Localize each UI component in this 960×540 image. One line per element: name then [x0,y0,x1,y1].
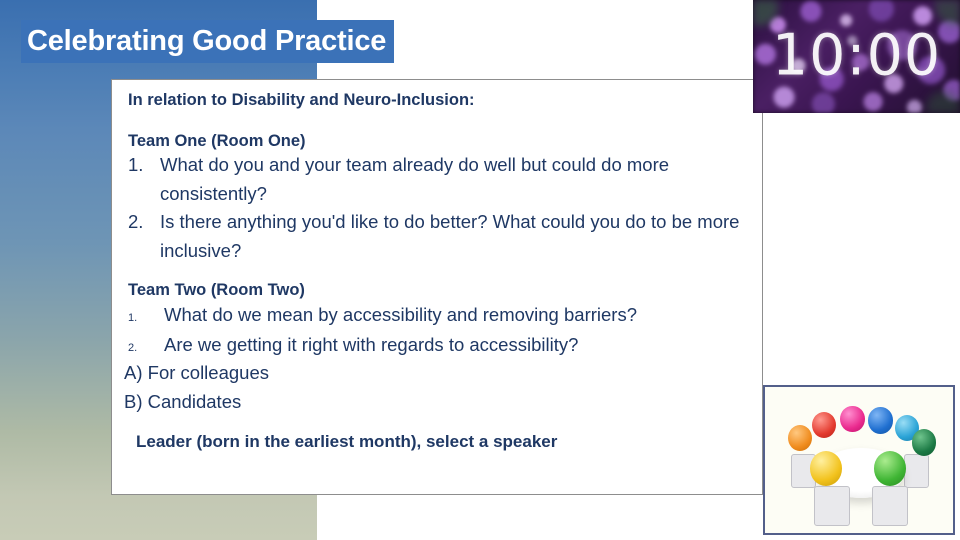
spacer [122,266,748,282]
list-item: 1. What do we mean by accessibility and … [128,300,748,330]
sub-item-b: B) Candidates [124,388,748,417]
chair [872,486,908,526]
content-text-box: In relation to Disability and Neuro-Incl… [111,79,763,495]
slide: Celebrating Good Practice In relation to… [0,0,960,540]
list-item-text: What do you and your team already do wel… [160,151,748,208]
person-head [874,451,906,486]
spacer [122,111,748,133]
list-item: 1. What do you and your team already do … [128,151,748,208]
page-title: Celebrating Good Practice [27,27,386,56]
people-around-table-clipart [763,385,955,535]
person-red [812,412,836,436]
person-head [868,407,892,433]
list-item-text: Is there anything you'd like to do bette… [160,208,748,265]
list-item-number: 1. [128,310,164,328]
list-item-number: 2. [128,208,160,237]
person-head [912,429,936,455]
leader-note: Leader (born in the earliest month), sel… [136,433,748,450]
person-green [874,451,906,482]
person-orange [788,425,812,449]
person-head [840,406,864,432]
person-head [810,451,842,486]
person-yellow [810,451,842,482]
timer-display: 10:00 [753,27,960,84]
list-item-number: 1. [128,151,160,180]
team-two-heading: Team Two (Room Two) [128,282,748,299]
intro-line: In relation to Disability and Neuro-Incl… [128,92,748,109]
chair [814,486,850,526]
team-two-list: 1. What do we mean by accessibility and … [122,300,748,359]
person-head [788,425,812,451]
sub-item-a: A) For colleagues [124,359,748,388]
person-darkgreen [912,429,936,453]
person-blue [868,407,892,431]
countdown-timer-image[interactable]: 10:00 [753,0,960,113]
person-head [812,412,836,438]
list-item-text: What do we mean by accessibility and rem… [164,300,637,330]
spacer [122,417,748,433]
person-pink [840,406,864,430]
body-text: In relation to Disability and Neuro-Incl… [122,92,748,450]
list-item: 2. Is there anything you'd like to do be… [128,208,748,265]
list-item-text: Are we getting it right with regards to … [164,330,578,360]
team-one-heading: Team One (Room One) [128,133,748,150]
slide-title-band: Celebrating Good Practice [21,20,394,63]
list-item: 2. Are we getting it right with regards … [128,330,748,360]
chair [904,454,929,488]
team-one-list: 1. What do you and your team already do … [122,151,748,266]
list-item-number: 2. [128,340,164,358]
